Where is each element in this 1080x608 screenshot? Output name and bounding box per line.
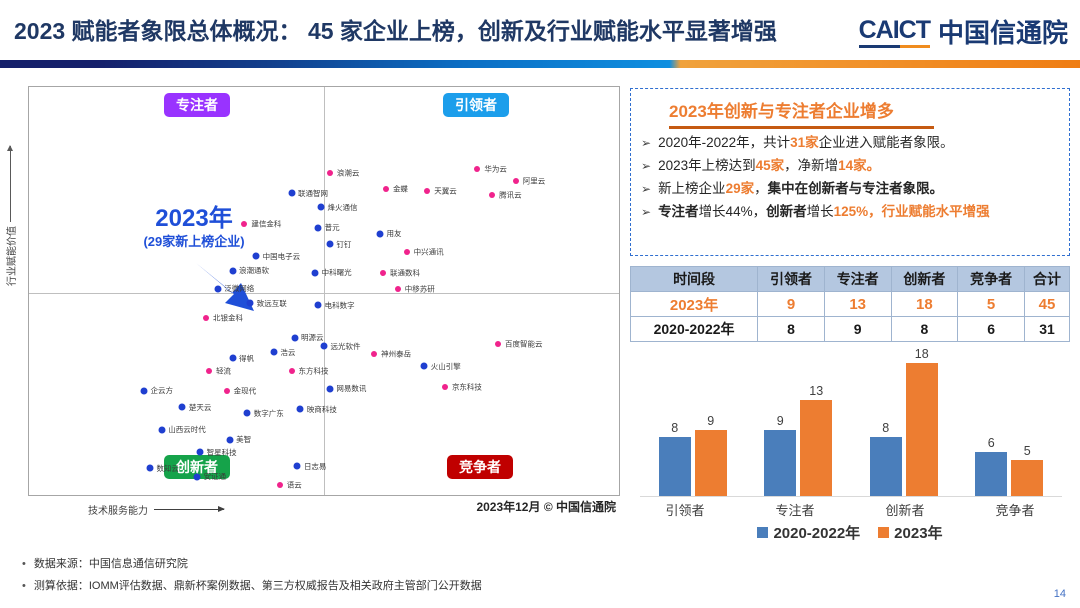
brand-logo: CAICT 中国信通院 [859,13,1068,50]
bar-group: 65 [965,348,1053,497]
scatter-point-label: 电科数字 [325,300,355,311]
scatter-point: 日志易 [294,463,301,470]
scatter-dot-icon [214,285,221,292]
scatter-dot-icon [229,267,236,274]
scatter-dot-icon [203,315,209,321]
scatter-point-label: 语云 [287,479,302,490]
scatter-point: 华为云 [474,166,480,172]
scatter-point: 致远互联 [247,300,254,307]
scatter-point: 山西云时代 [158,426,165,433]
scatter-point-label: 建信金科 [251,218,281,229]
scatter-point-label: 楚天云 [189,402,212,413]
scatter-point-label: 映商科技 [307,404,337,415]
quadrant-label-competitor: 竞争者 [447,455,513,479]
scatter-dot-icon [277,482,283,488]
bar: 9 [695,430,727,497]
legend-item: 2023年 [878,522,942,543]
quadrant-label-leader: 引领者 [443,93,509,117]
scatter-point-label: 京东科技 [452,381,482,392]
scatter-point: 阿里云 [513,178,519,184]
footnote-text: 数据来源：中国信息通信研究院 [34,558,188,571]
scatter-point-label: 联通智网 [298,188,328,199]
scatter-dot-icon [289,368,295,374]
bar: 18 [906,363,938,497]
table-cell: 9 [824,317,891,342]
callout-bullet-list: ➢2020年-2022年，共计31家企业进入赋能者象限。➢2023年上榜达到45… [641,135,1059,221]
scatter-point-label: 金现代 [234,385,257,396]
scatter-dot-icon [158,426,165,433]
scatter-point-label: 华为云 [484,163,507,174]
scatter-dot-icon [270,349,277,356]
scatter-dot-icon [179,404,186,411]
bar-group: 89 [649,348,737,497]
footnotes: •数据来源：中国信息通信研究院•测算依据：IOMM评估数据、鼎新杯案例数据、第三… [22,558,622,602]
scatter-dot-icon [226,436,233,443]
scatter-point-label: 智星科技 [207,447,237,458]
scatter-point: 北银金科 [203,315,209,321]
callout-bullet-item: ➢专注者增长44%，创新者增长125%，行业赋能水平增强 [641,204,1059,221]
scatter-dot-icon [253,253,260,260]
scatter-dot-icon [312,269,319,276]
scatter-point: 数字广东 [244,410,251,417]
table-row: 2023年91318545 [631,292,1070,317]
scatter-point: 语云 [277,482,283,488]
page-number: 14 [1054,588,1066,600]
scatter-dot-icon [321,343,328,350]
callout-bullet-text: 2020年-2022年，共计31家企业进入赋能者象限。 [658,135,954,152]
scatter-point: 浪潮云 [327,170,333,176]
scatter-dot-icon [315,302,322,309]
brand-cn-text: 中国信通院 [938,13,1068,50]
bullet-arrow-icon: ➢ [641,135,651,151]
scatter-point: 轻流 [206,368,212,374]
scatter-point-label: 安证通 [204,471,227,482]
bar-category-label: 创新者 [861,500,949,519]
bar-chart-legend: 2020-2022年2023年 [630,522,1070,543]
scatter-dot-icon [146,465,153,472]
scatter-dot-icon [206,368,212,374]
slide-header: 2023 赋能者象限总体概况： 45 家企业上榜，创新及行业赋能水平显著增强 C… [0,0,1080,56]
bar-category-label: 专注者 [751,500,839,519]
y-axis-arrow-icon [10,146,11,222]
comparison-bar-chart: 8991381865 2020-2022年2023年 引领者专注者创新者竞争者 [630,348,1070,543]
scatter-point-label: 浩云 [280,347,295,358]
bar: 5 [1011,460,1043,497]
brand-abbr-text: CAICT [859,16,930,48]
quadrant-label-focus: 专注者 [164,93,230,117]
scatter-point-label: 山西云时代 [168,424,206,435]
bullet-arrow-icon: ➢ [641,158,651,174]
scatter-point: 电科数字 [315,302,322,309]
callout-bullet-text: 新上榜企业29家，集中在创新者与专注者象限。 [658,181,943,198]
scatter-point-label: 浪潮通软 [239,265,269,276]
scatter-dot-icon [197,449,204,456]
scatter-dot-icon [318,204,325,211]
scatter-dot-icon [442,384,448,390]
scatter-point: 中科曙光 [312,269,319,276]
scatter-point-label: 联通数科 [390,267,420,278]
scatter-point: 数知云 [146,465,153,472]
scatter-dot-icon [315,224,322,231]
scatter-dot-icon [395,286,401,292]
chart-credit: 2023年12月 © 中国信通院 [476,498,616,515]
table-row-label: 2020-2022年 [631,317,758,342]
scatter-dot-icon [489,192,495,198]
bar: 8 [659,437,691,497]
callout-title: 2023年创新与专注者企业增多 [669,97,894,125]
scatter-point: 钉钉 [326,241,333,248]
bar-value-label: 5 [1024,444,1031,458]
scatter-dot-icon [404,249,410,255]
scatter-point: 远光软件 [321,343,328,350]
bar-value-label: 18 [915,347,929,361]
scatter-point: 中兴通讯 [404,249,410,255]
footnote-text: 测算依据：IOMM评估数据、鼎新杯案例数据、第三方权威报告及相关政府主管部门公开… [34,580,482,593]
scatter-point: 联通智网 [288,190,295,197]
scatter-point: 腾讯云 [489,192,495,198]
scatter-point: 楚天云 [179,404,186,411]
scatter-point: 中移苏研 [395,286,401,292]
scatter-point-label: 普元 [325,222,340,233]
scatter-point-label: 钉钉 [336,239,351,250]
scatter-dot-icon [326,241,333,248]
table-body: 2023年913185452020-2022年898631 [631,292,1070,342]
summary-table: 时间段引领者专注者创新者竞争者合计 2023年913185452020-2022… [630,266,1070,342]
table-cell: 8 [891,317,958,342]
bar-chart-baseline [640,496,1062,497]
table-header-cell: 创新者 [891,267,958,292]
bullet-arrow-icon: ➢ [641,181,651,197]
scatter-point-label: 美智 [236,434,251,445]
scatter-point-label: 中兴通讯 [414,247,444,258]
scatter-dot-icon [288,190,295,197]
scatter-point-label: 企云方 [151,385,174,396]
legend-swatch-icon [757,527,768,538]
table-header-cell: 专注者 [824,267,891,292]
table-cell: 8 [758,317,825,342]
scatter-dot-icon [244,410,251,417]
scatter-point-label: 神州泰岳 [381,349,411,360]
scatter-point-label: 中科曙光 [322,267,352,278]
scatter-point: 联通数科 [380,270,386,276]
scatter-point: 烽火通信 [318,204,325,211]
scatter-point-label: 日志易 [304,461,327,472]
scatter-point-label: 中国电子云 [263,251,301,262]
scatter-point-label: 得帆 [239,353,254,364]
bar-group: 818 [860,348,948,497]
scatter-point-label: 火山引擎 [431,361,461,372]
bar-category-label: 引领者 [641,500,729,519]
scatter-point-label: 烽火通信 [328,202,358,213]
scatter-dot-icon [247,300,254,307]
bar-group: 913 [754,348,842,497]
bar-value-label: 6 [988,436,995,450]
legend-swatch-icon [878,527,889,538]
legend-item: 2020-2022年 [757,522,860,543]
scatter-dot-icon [224,388,230,394]
bar-value-label: 9 [707,414,714,428]
scatter-point-label: 远光软件 [331,341,361,352]
scatter-dot-icon [495,341,501,347]
scatter-point: 普元 [315,224,322,231]
scatter-point-label: 泛微网络 [224,283,254,294]
scatter-point-label: 东方科技 [299,365,329,376]
scatter-point: 天翼云 [424,188,430,194]
scatter-dot-icon [294,463,301,470]
scatter-dot-icon [380,270,386,276]
table-header-row: 时间段引领者专注者创新者竞争者合计 [631,267,1070,292]
scatter-point: 神州泰岳 [371,351,377,357]
scatter-point-label: 天翼云 [434,186,457,197]
y-axis-label-group: 行业赋能价值 [2,146,18,286]
scatter-point: 建信金科 [241,221,247,227]
footnote-item: •测算依据：IOMM评估数据、鼎新杯案例数据、第三方权威报告及相关政府主管部门公… [22,580,622,593]
scatter-dot-icon [383,186,389,192]
annotation-count: (29家新上榜企业) [104,235,284,250]
table-header-cell: 引领者 [758,267,825,292]
scatter-dot-icon [229,355,236,362]
x-axis-label: 技术服务能力 [88,502,148,517]
table-header-cell: 竞争者 [958,267,1025,292]
scatter-point: 浩云 [270,349,277,356]
summary-callout: 2023年创新与专注者企业增多 ➢2020年-2022年，共计31家企业进入赋能… [630,88,1070,256]
scatter-point-label: 百度智能云 [505,339,543,350]
scatter-point-label: 金蝶 [393,184,408,195]
scatter-point: 美智 [226,436,233,443]
scatter-dot-icon [297,406,304,413]
scatter-point: 得帆 [229,355,236,362]
table-cell: 13 [824,292,891,317]
header-ribbon-divider [0,60,1080,68]
quadrant-horizontal-divider [29,293,619,294]
table-cell: 5 [958,292,1025,317]
scatter-point: 泛微网络 [214,285,221,292]
scatter-dot-icon [424,188,430,194]
scatter-point: 京东科技 [442,384,448,390]
scatter-point: 百度智能云 [495,341,501,347]
scatter-dot-icon [194,473,201,480]
scatter-dot-icon [291,334,298,341]
quadrant-chart: 专注者 引领者 创新者 竞争者 2023年 (29家新上榜企业) 浪潮云华为云阿… [28,86,620,496]
bar-value-label: 8 [882,421,889,435]
scatter-dot-icon [421,363,428,370]
scatter-point-label: 阿里云 [523,175,546,186]
footnote-item: •数据来源：中国信息通信研究院 [22,558,622,571]
scatter-point-label: 网易数讯 [336,383,366,394]
scatter-point-label: 轻流 [216,365,231,376]
footnote-bullet-icon: • [22,580,26,593]
scatter-point-label: 数字广东 [254,408,284,419]
table-cell: 6 [958,317,1025,342]
table-header-cell: 合计 [1024,267,1069,292]
page-title: 2023 赋能者象限总体概况： 45 家企业上榜，创新及行业赋能水平显著增强 [14,12,777,46]
x-axis-label-group: 技术服务能力 [88,502,224,517]
table-row: 2020-2022年898631 [631,317,1070,342]
footnote-bullet-icon: • [22,558,26,571]
scatter-dot-icon [371,351,377,357]
scatter-point: 企云方 [141,387,148,394]
scatter-point: 用友 [377,230,384,237]
callout-bullet-item: ➢2020年-2022年，共计31家企业进入赋能者象限。 [641,135,1059,152]
scatter-point: 中国电子云 [253,253,260,260]
scatter-point: 网易数讯 [326,385,333,392]
callout-bullet-item: ➢新上榜企业29家，集中在创新者与专注者象限。 [641,181,1059,198]
callout-bullet-text: 专注者增长44%，创新者增长125%，行业赋能水平增强 [658,204,990,221]
legend-label: 2023年 [894,522,942,543]
quadrant-vertical-divider [324,87,325,495]
scatter-point: 火山引擎 [421,363,428,370]
scatter-point-label: 腾讯云 [499,190,522,201]
scatter-point: 金蝶 [383,186,389,192]
bar-category-label: 竞争者 [971,500,1059,519]
scatter-dot-icon [141,387,148,394]
scatter-dot-icon [327,170,333,176]
table-header-cell: 时间段 [631,267,758,292]
scatter-point: 映商科技 [297,406,304,413]
slide-root: 2023 赋能者象限总体概况： 45 家企业上榜，创新及行业赋能水平显著增强 C… [0,0,1080,608]
scatter-point-label: 浪潮云 [337,167,360,178]
callout-bullet-item: ➢2023年上榜达到45家，净新增14家。 [641,158,1059,175]
bar: 6 [975,452,1007,497]
bar: 8 [870,437,902,497]
scatter-point-label: 中移苏研 [405,283,435,294]
callout-bullet-text: 2023年上榜达到45家，净新增14家。 [658,158,880,175]
scatter-point: 明源云 [291,334,298,341]
table-cell: 45 [1024,292,1069,317]
callout-underline [669,126,934,129]
x-axis-arrow-icon [154,509,224,510]
bar-value-label: 9 [777,414,784,428]
bar: 13 [800,400,832,497]
scatter-point-label: 北银金科 [213,312,243,323]
quadrant-plot-area: 专注者 引领者 创新者 竞争者 2023年 (29家新上榜企业) 浪潮云华为云阿… [28,86,620,496]
scatter-point-label: 致远互联 [257,298,287,309]
scatter-point: 浪潮通软 [229,267,236,274]
table-cell: 18 [891,292,958,317]
bar: 9 [764,430,796,497]
scatter-dot-icon [241,221,247,227]
scatter-point: 金现代 [224,388,230,394]
scatter-point-label: 数知云 [156,463,179,474]
scatter-dot-icon [377,230,384,237]
bar-value-label: 8 [671,421,678,435]
scatter-point: 东方科技 [289,368,295,374]
bullet-arrow-icon: ➢ [641,204,651,220]
scatter-point: 智星科技 [197,449,204,456]
y-axis-label: 行业赋能价值 [3,226,18,286]
legend-label: 2020-2022年 [773,522,860,543]
table-cell: 31 [1024,317,1069,342]
bar-plot-area: 8991381865 [640,348,1062,497]
table-cell: 9 [758,292,825,317]
scatter-dot-icon [513,178,519,184]
scatter-point-label: 用友 [387,228,402,239]
table-row-label: 2023年 [631,292,758,317]
scatter-dot-icon [326,385,333,392]
scatter-point: 安证通 [194,473,201,480]
scatter-dot-icon [474,166,480,172]
bar-value-label: 13 [809,384,823,398]
